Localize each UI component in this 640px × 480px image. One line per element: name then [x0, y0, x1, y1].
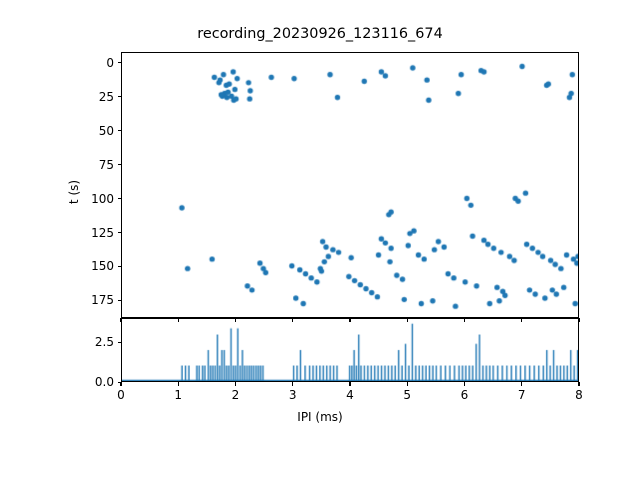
hist-x-tick-mark — [292, 382, 293, 386]
scatter-y-tick-label: 125 — [73, 226, 114, 240]
scatter-y-tick-mark — [118, 300, 122, 301]
hist-y-tick-label: 0.0 — [73, 375, 114, 389]
scatter-y-axis-label: t (s) — [67, 180, 81, 204]
hist-x-tick-mark — [578, 382, 579, 386]
hist-x-tick-mark — [407, 382, 408, 386]
scatter-y-tick-label: 25 — [73, 90, 114, 104]
scatter-x-tick-mark — [120, 318, 121, 322]
hist-x-tick-label: 7 — [518, 388, 526, 402]
histogram-x-axis-label: IPI (ms) — [0, 410, 640, 424]
hist-y-tick-label: 2.5 — [73, 335, 114, 349]
hist-x-tick-mark — [464, 382, 465, 386]
hist-x-tick-label: 6 — [461, 388, 469, 402]
histogram-axes — [121, 318, 579, 382]
scatter-x-tick-mark — [235, 318, 236, 322]
hist-x-tick-mark — [349, 382, 350, 386]
scatter-x-tick-mark — [349, 318, 350, 322]
hist-x-tick-mark — [235, 382, 236, 386]
figure-title: recording_20230926_123116_674 — [0, 26, 640, 42]
scatter-y-tick-mark — [118, 266, 122, 267]
scatter-x-tick-mark — [521, 318, 522, 322]
scatter-y-tick-label: 150 — [73, 259, 114, 273]
hist-x-tick-label: 5 — [403, 388, 411, 402]
scatter-y-tick-mark — [118, 96, 122, 97]
hist-x-tick-label: 3 — [289, 388, 297, 402]
hist-x-tick-mark — [521, 382, 522, 386]
hist-x-tick-label: 1 — [174, 388, 182, 402]
scatter-y-tick-mark — [118, 164, 122, 165]
hist-x-tick-label: 8 — [575, 388, 583, 402]
scatter-plot-area — [122, 53, 578, 317]
hist-x-tick-mark — [178, 382, 179, 386]
scatter-x-tick-mark — [178, 318, 179, 322]
scatter-y-tick-mark — [118, 130, 122, 131]
scatter-y-tick-label: 175 — [73, 293, 114, 307]
scatter-x-tick-mark — [407, 318, 408, 322]
scatter-axes — [121, 52, 579, 318]
scatter-y-tick-label: 50 — [73, 124, 114, 138]
scatter-x-tick-mark — [578, 318, 579, 322]
hist-y-tick-mark — [118, 342, 122, 343]
scatter-y-tick-label: 0 — [73, 56, 114, 70]
hist-x-tick-label: 2 — [232, 388, 240, 402]
hist-x-tick-mark — [120, 382, 121, 386]
scatter-y-tick-label: 75 — [73, 158, 114, 172]
scatter-x-tick-mark — [292, 318, 293, 322]
histogram-plot-area — [122, 319, 578, 381]
scatter-y-tick-mark — [118, 232, 122, 233]
scatter-y-tick-mark — [118, 198, 122, 199]
scatter-x-tick-mark — [464, 318, 465, 322]
matplotlib-figure: recording_20230926_123116_674 0255075100… — [0, 0, 640, 480]
hist-x-tick-label: 4 — [346, 388, 354, 402]
hist-x-tick-label: 0 — [117, 388, 125, 402]
scatter-y-tick-mark — [118, 62, 122, 63]
